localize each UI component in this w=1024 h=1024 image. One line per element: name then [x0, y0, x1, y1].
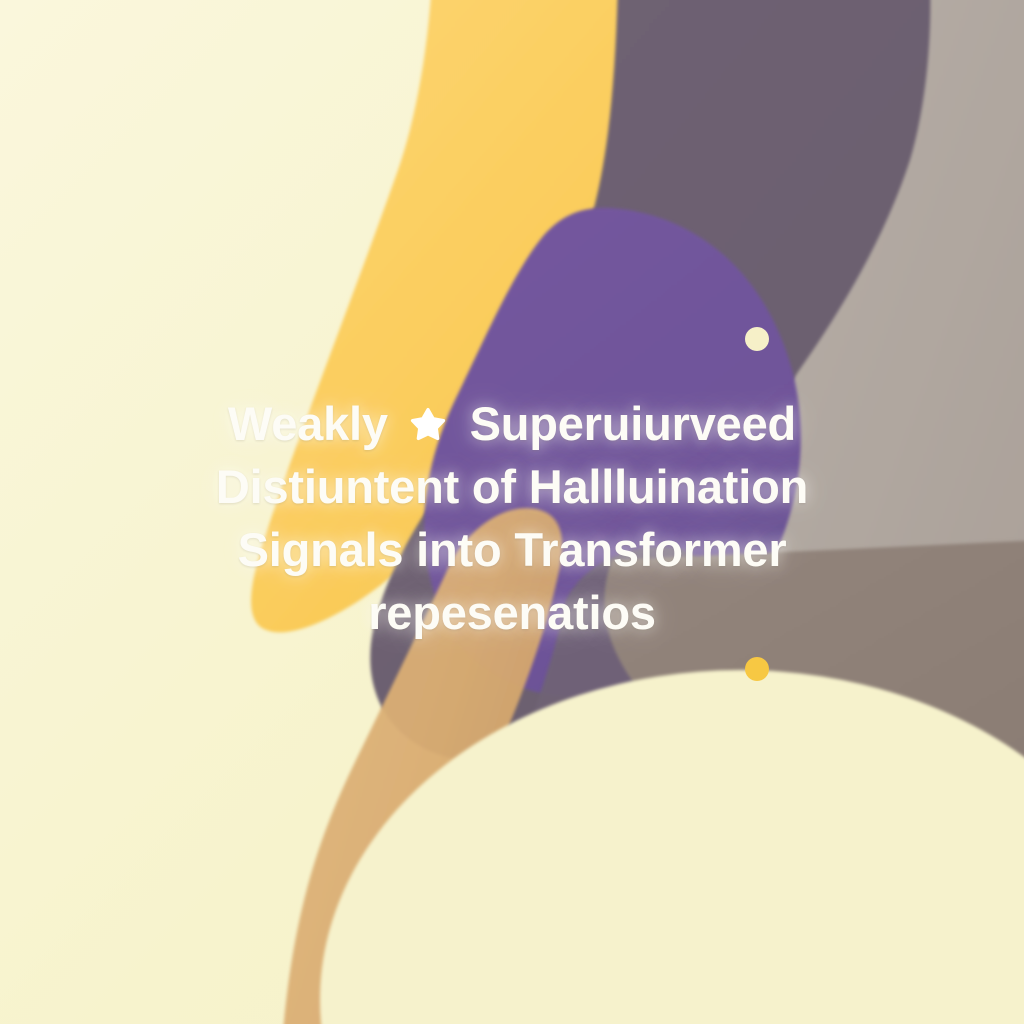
poster-canvas: Weakly Superuiurveed Distiuntent of Hall…	[0, 0, 1024, 1024]
abstract-background-artwork	[0, 0, 1024, 1024]
cream-dot-icon	[745, 327, 769, 351]
amber-dot-icon	[745, 657, 769, 681]
